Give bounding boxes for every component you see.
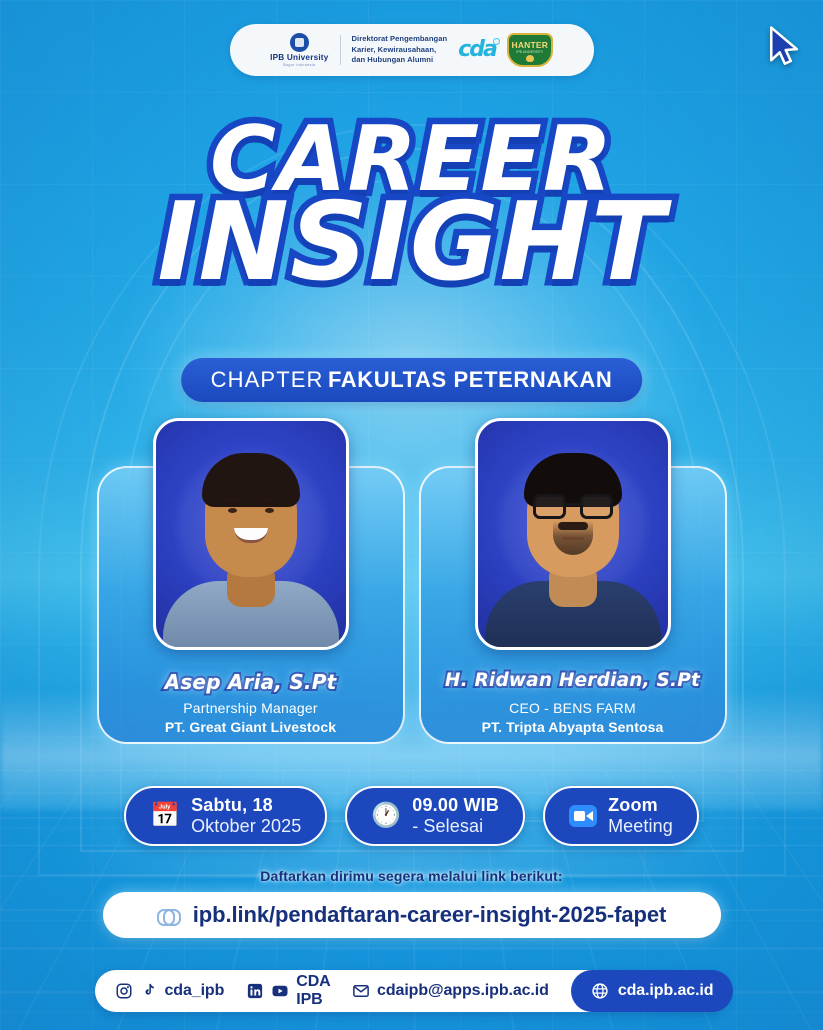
ipb-crest-icon [290, 33, 309, 52]
calendar-icon: 📅 [150, 804, 180, 828]
hanter-logo: HANTER IPB UNIVERSITY [507, 33, 553, 67]
cda-logo: cda [458, 39, 496, 61]
chain-link-icon [157, 909, 181, 922]
date-pill: 📅 Sabtu, 18 Oktober 2025 [124, 786, 327, 846]
registration-link-button[interactable]: ipb.link/pendaftaran-career-insight-2025… [103, 892, 721, 938]
mouse-cursor-icon [767, 26, 801, 66]
time-pill: 🕐 09.00 WIB - Selesai [345, 786, 525, 846]
event-poster: IPB University Bogor Indonesia Direktora… [0, 0, 823, 1030]
hanter-logo-title: HANTER [512, 41, 549, 50]
website-badge[interactable]: cda.ipb.ac.id [571, 970, 734, 1012]
time-line-1: 09.00 WIB [412, 795, 499, 816]
tiktok-icon [140, 982, 158, 1000]
speaker-role: Partnership Manager [97, 700, 405, 716]
email-group[interactable]: cdaipb@apps.ipb.ac.id [352, 982, 549, 1000]
instagram-tiktok-handle: cda_ipb [165, 982, 225, 1000]
speaker-list: Asep Aria, S.Pt Partnership Manager PT. … [0, 418, 823, 744]
email-address: cdaipb@apps.ipb.ac.id [377, 982, 549, 1000]
speaker-org: PT. Tripta Abyapta Sentosa [419, 719, 727, 735]
poster-title: CAREER INSIGHT [0, 120, 823, 290]
instagram-icon [115, 982, 133, 1000]
linkedin-icon [246, 982, 264, 1000]
chapter-badge: CHAPTER FAKULTAS PETERNAKAN [181, 358, 643, 402]
directorate-name: Direktorat Pengembangan Karier, Kewiraus… [352, 34, 448, 66]
speaker-card: H. Ridwan Herdian, S.Pt CEO - BENS FARM … [419, 418, 727, 744]
ipb-logo-sub: Bogor Indonesia [283, 63, 315, 67]
chapter-prefix: CHAPTER [211, 367, 324, 392]
eyeglasses-icon [533, 494, 613, 519]
platform-pill: Zoom Meeting [543, 786, 699, 846]
portrait-illustration [156, 421, 346, 647]
date-line-2: Oktober 2025 [191, 816, 301, 837]
chapter-name: FAKULTAS PETERNAKAN [328, 367, 612, 392]
email-icon [352, 982, 370, 1000]
date-line-1: Sabtu, 18 [191, 795, 301, 816]
directorate-line-2: Karier, Kewirausahaan, [352, 45, 448, 56]
header-logo-bar: IPB University Bogor Indonesia Direktora… [230, 24, 594, 76]
event-info-pills: 📅 Sabtu, 18 Oktober 2025 🕐 09.00 WIB - S… [0, 786, 823, 846]
ipb-logo-name: IPB University [270, 53, 328, 62]
ipb-university-logo: IPB University Bogor Indonesia [270, 33, 328, 67]
portrait-illustration [478, 421, 668, 647]
directorate-line-1: Direktorat Pengembangan [352, 34, 448, 45]
website-url: cda.ipb.ac.id [618, 982, 714, 1000]
youtube-icon [271, 982, 289, 1000]
directorate-line-3: dan Hubungan Alumni [352, 55, 448, 66]
platform-line-1: Zoom [608, 795, 673, 816]
zoom-icon [569, 805, 597, 827]
hanter-emblem-icon [526, 55, 534, 62]
footer-contact-bar: cda_ipb CDA IPB cdaipb@apps.ipb.ac.id [95, 970, 729, 1012]
speaker-card: Asep Aria, S.Pt Partnership Manager PT. … [97, 418, 405, 744]
platform-line-2: Meeting [608, 816, 673, 837]
speaker-org: PT. Great Giant Livestock [97, 719, 405, 735]
register-label: Daftarkan dirimu segera melalui link ber… [0, 868, 823, 884]
social-group-linkedin-youtube[interactable]: CDA IPB [246, 973, 330, 1009]
linkedin-youtube-handle: CDA IPB [296, 973, 330, 1009]
title-line-insight: INSIGHT [0, 195, 823, 290]
social-group-instagram-tiktok[interactable]: cda_ipb [115, 982, 225, 1000]
speaker-role: CEO - BENS FARM [419, 700, 727, 716]
speaker-name: Asep Aria, S.Pt [97, 670, 405, 694]
clock-icon: 🕐 [371, 804, 401, 828]
time-line-2: - Selesai [412, 816, 499, 837]
speaker-photo-asep-aria [153, 418, 349, 650]
header-divider [340, 35, 341, 65]
globe-icon [591, 982, 609, 1000]
speaker-photo-ridwan-herdian [475, 418, 671, 650]
speaker-name: H. Ridwan Herdian, S.Pt [419, 670, 727, 691]
hanter-logo-sub: IPB UNIVERSITY [516, 51, 543, 54]
registration-url: ipb.link/pendaftaran-career-insight-2025… [193, 902, 666, 928]
